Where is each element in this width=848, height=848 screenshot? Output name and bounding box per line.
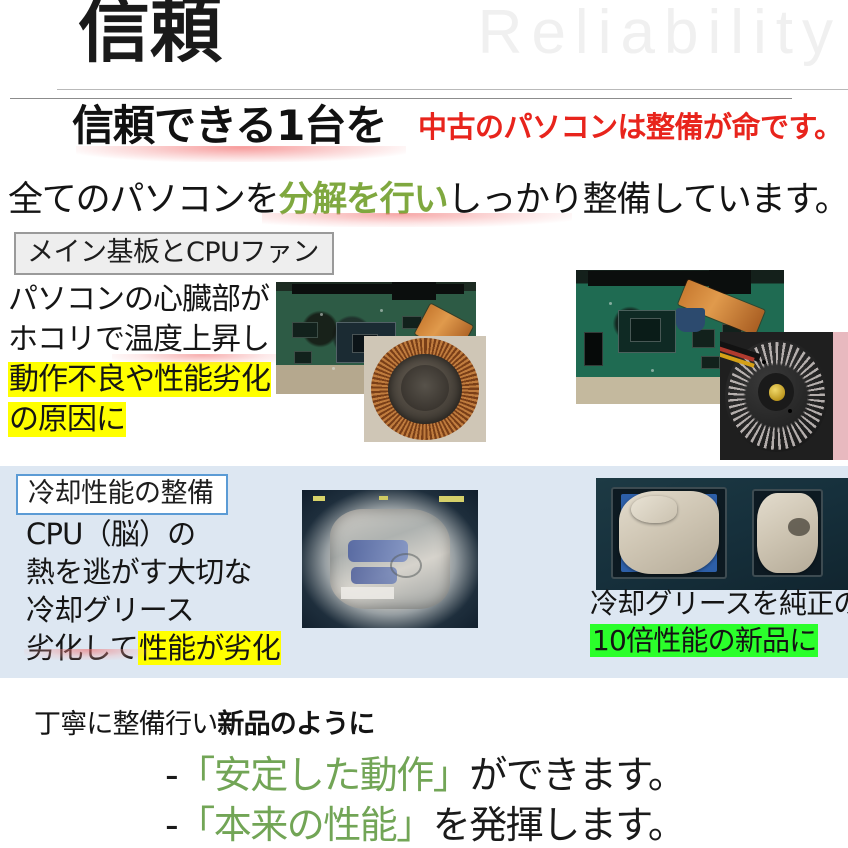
lead-part1: 全てのパソコンを (8, 180, 278, 220)
section-cooling-grease: 冷却性能の整備 CPU（脳）の 熱を逃がす大切な 冷却グリース 劣化して性能が劣… (0, 466, 848, 678)
conclusion-line-3-tail: を発揮します。 (433, 803, 685, 847)
conclusion-line-3: -「本来の性能」を発揮します。 (165, 794, 684, 848)
subtitle-red-note: 中古のパソコンは整備が命です。 (418, 112, 843, 142)
subtitle-underline-glow (76, 146, 406, 162)
conclusion-line-1-strong: 新品のように (217, 709, 374, 740)
photo-thermal-paste-after (596, 478, 848, 590)
section-mainboard-cpufan: メイン基板とCPUファン パソコンの心臓部が ホコリで温度上昇し 動作不良や性能… (0, 232, 848, 464)
section1-label: メイン基板とCPUファン (14, 232, 334, 275)
section2-line-2: 熱を逃がす大切な (26, 554, 281, 592)
section1-line-1: パソコンの心臓部が (8, 280, 271, 320)
section1-line-3: 動作不良や性能劣化 (8, 360, 271, 400)
page-header: 信頼 Reliability (0, 0, 848, 100)
section2-label: 冷却性能の整備 (16, 474, 228, 515)
lead-underline-glow (262, 213, 572, 227)
section1-line-3-highlight: 動作不良や性能劣化 (8, 362, 271, 397)
conclusion-block: 丁寧に整備行い新品のように -「安定した動作」ができます。 -「本来の性能」を発… (0, 690, 848, 848)
section2-line-3: 冷却グリース (26, 592, 281, 630)
subtitle-main: 信頼できる1台を (72, 104, 386, 148)
photo-cpufan-before (364, 336, 486, 442)
section1-line-4-highlight: の原因に (8, 402, 126, 437)
subtitle-row: 信頼できる1台を 中古のパソコンは整備が命です。 (0, 104, 848, 164)
section2-underline-glow (24, 649, 152, 660)
title-watermark-reliability: Reliability (478, 2, 842, 64)
section2-caption-line-1: 冷却グリースを純正の (590, 586, 848, 623)
section2-caption-highlight: 10倍性能の新品に (590, 624, 818, 657)
section2-caption-line-2: 10倍性能の新品に (590, 623, 848, 660)
conclusion-line-2-tail: ができます。 (469, 753, 684, 797)
page-title: 信頼 (78, 0, 222, 66)
section2-line-1: CPU（脳）の (26, 516, 281, 554)
photo-thermal-paste-before (302, 490, 478, 628)
conclusion-line-1: 丁寧に整備行い新品のように (34, 702, 375, 741)
header-divider-top (57, 89, 848, 90)
infographic-page: 信頼 Reliability 信頼できる1台を 中古のパソコンは整備が命です。 … (0, 0, 848, 848)
conclusion-line-2-accent: 「安定した動作」 (177, 753, 469, 797)
conclusion-line-2: -「安定した動作」ができます。 (165, 744, 684, 799)
section1-line-4: の原因に (8, 400, 271, 440)
photo-cpufan-after (720, 332, 848, 460)
conclusion-line-3-dash: - (165, 803, 177, 847)
section2-line-4-highlight: 性能が劣化 (138, 631, 281, 665)
conclusion-line-2-dash: - (165, 753, 177, 797)
section2-body-text: CPU（脳）の 熱を逃がす大切な 冷却グリース 劣化して性能が劣化 (26, 516, 281, 668)
section2-caption: 冷却グリースを純正の 10倍性能の新品に (590, 586, 848, 660)
conclusion-line-3-accent: 「本来の性能」 (177, 803, 433, 847)
header-divider-bottom (10, 98, 792, 99)
section1-underline-glow (112, 354, 292, 365)
conclusion-line-1-plain: 丁寧に整備行い (34, 709, 217, 740)
